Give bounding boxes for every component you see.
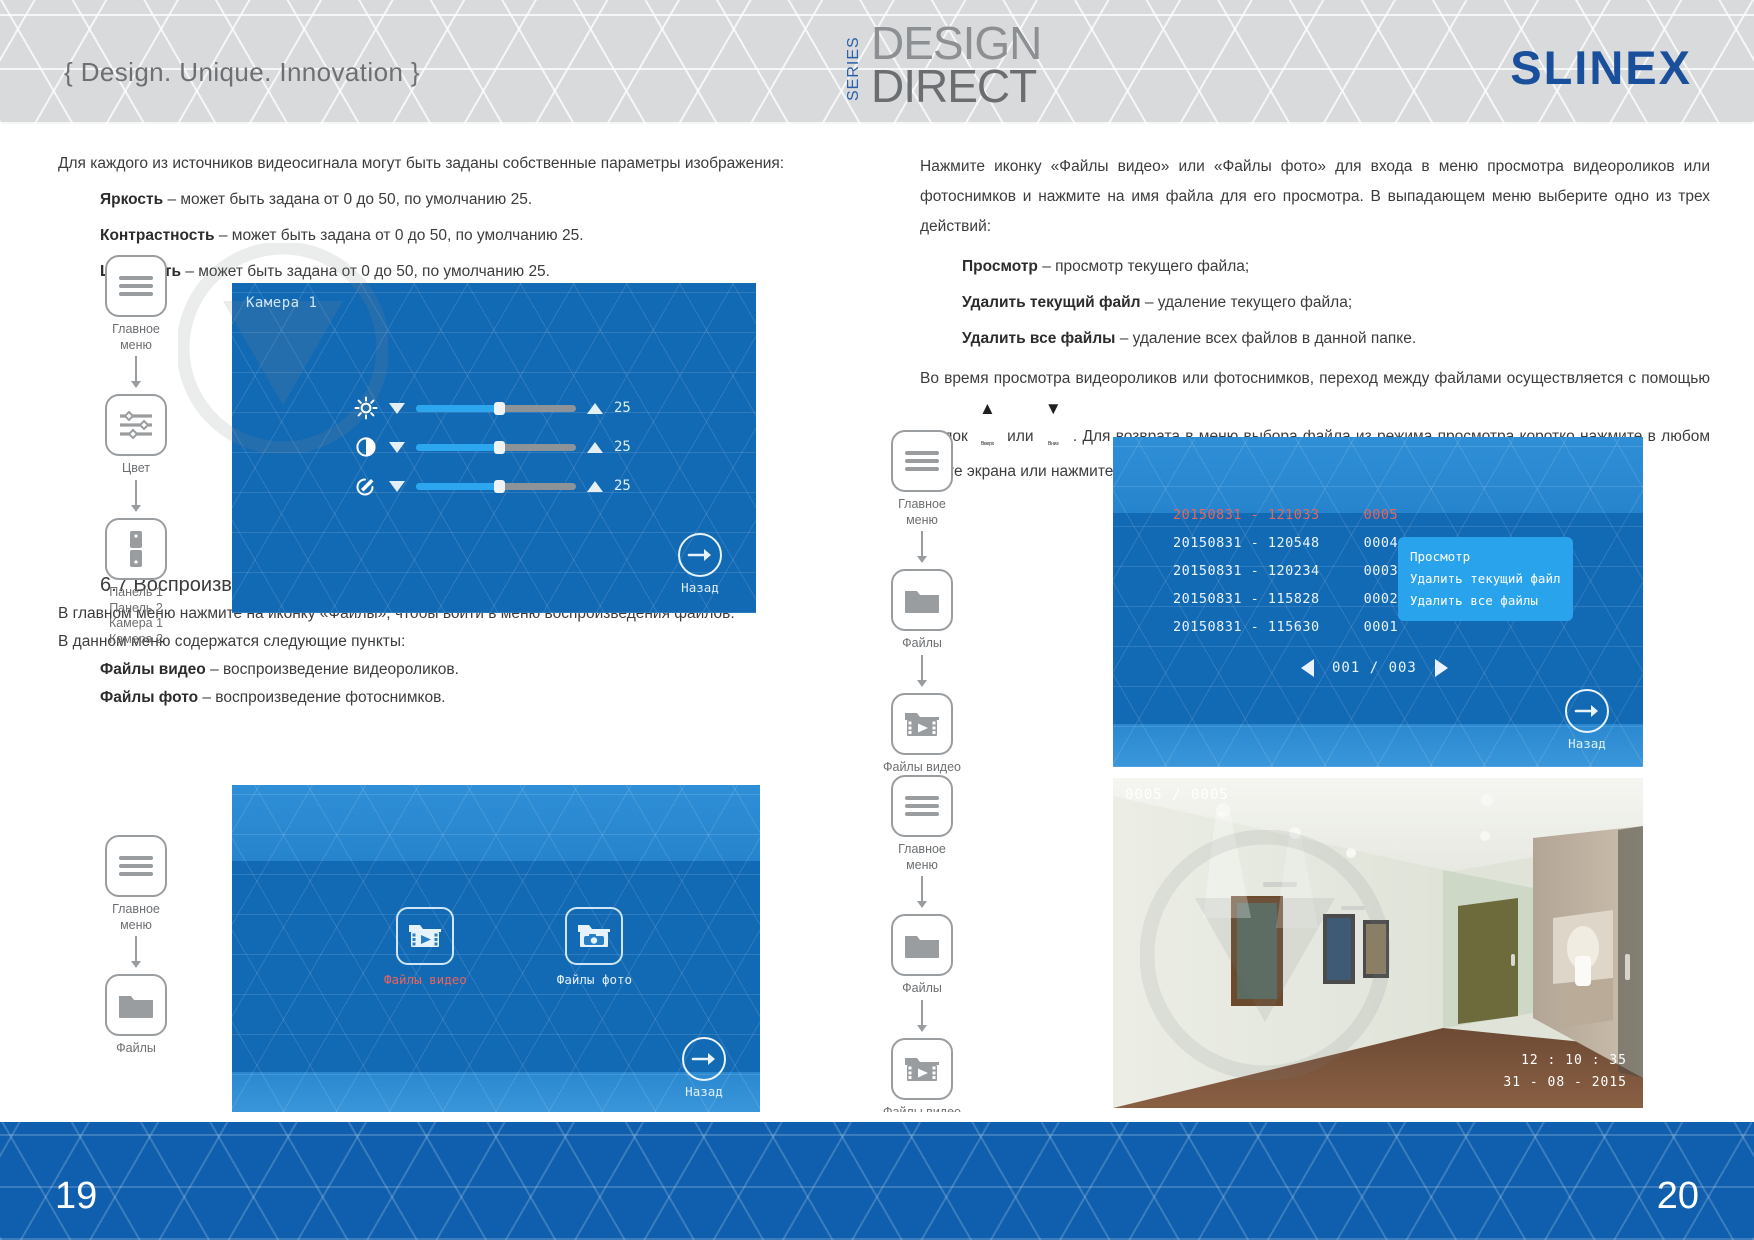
- video-folder-icon: [903, 709, 941, 739]
- contrast-icon: [354, 435, 378, 459]
- photo-date: 31 - 08 - 2015: [1503, 1075, 1627, 1090]
- video-folder-icon: [903, 1054, 941, 1084]
- file-list-screen: 20150831 - 121033 0005 20150831 - 120548…: [1113, 437, 1643, 767]
- pagination-label: 001 / 003: [1332, 660, 1417, 676]
- back-button-files[interactable]: Назад: [682, 1037, 726, 1099]
- flow-label-panels: Панель 1 Панель 2 Камера 1 Камера 2: [76, 585, 196, 648]
- file-list-item[interactable]: 20150831 - 120234 0003: [1173, 563, 1408, 579]
- sidebar-item-main-menu-2[interactable]: [105, 835, 167, 897]
- flow-arrow-2: [135, 480, 137, 506]
- color-decrease-button[interactable]: [389, 481, 405, 492]
- photo-preview-screen: 0005 / 0005 12 : 10 : 35 31 - 08 - 2015: [1113, 778, 1643, 1108]
- right-flow-1: Главное меню Файлы Файлы видео: [862, 430, 982, 776]
- page-number-left: 19: [55, 1175, 97, 1218]
- previous-page-button[interactable]: [1301, 659, 1314, 677]
- photo-counter: 0005 / 0005: [1125, 787, 1229, 803]
- back-button[interactable]: Назад: [678, 533, 722, 595]
- back-button-label: Назад: [678, 580, 722, 595]
- param-contrast-name: Контрастность: [100, 227, 215, 244]
- file-name: 20150831 - 115630: [1173, 619, 1320, 635]
- action-delete-current-desc: – удаление текущего файла;: [1141, 294, 1353, 311]
- file-name: 20150831 - 115828: [1173, 591, 1320, 607]
- photo-time: 12 : 10 : 35: [1521, 1053, 1627, 1068]
- manual-page: { Design. Unique. Innovation } SERIES DE…: [0, 0, 1754, 1240]
- file-number: 0005: [1364, 507, 1408, 523]
- action-delete-all-name: Удалить все файлы: [962, 330, 1115, 347]
- right-intro-paragraph: Нажмите иконку «Файлы видео» или «Файлы …: [920, 152, 1710, 243]
- page-footer: 19 20: [0, 1112, 1754, 1240]
- file-list-item[interactable]: 20150831 - 120548 0004: [1173, 535, 1408, 551]
- param-brightness-desc: – может быть задана от 0 до 50, по умолч…: [163, 191, 532, 208]
- back-arrow-icon: [1565, 689, 1609, 733]
- footer-mesh-pattern: [0, 1112, 1754, 1240]
- flow-arrow-5: [921, 655, 923, 681]
- back-button-file-list[interactable]: Назад: [1565, 689, 1609, 751]
- file-number: 0001: [1364, 619, 1408, 635]
- param-brightness-name: Яркость: [100, 191, 163, 208]
- sidebar-item-files-2[interactable]: [891, 569, 953, 631]
- flow-label-color: Цвет: [76, 461, 196, 477]
- item-video-files-desc: – воспроизведение видеороликов.: [206, 661, 459, 678]
- right-flow-2: Главное меню Файлы Файлы видео: [862, 775, 982, 1121]
- context-menu-item-delete-all[interactable]: Удалить все файлы: [1410, 590, 1561, 612]
- flow-label-main-menu-4: Главное меню: [862, 842, 982, 873]
- brightness-value: 25: [614, 400, 640, 416]
- series-design-text: DESIGN: [871, 22, 1041, 65]
- screen-bottom-band: [232, 1072, 760, 1115]
- screen-bottom-band: [1113, 724, 1643, 767]
- action-view: Просмотр – просмотр текущего файла;: [920, 255, 1710, 279]
- file-list-item[interactable]: 20150831 - 115630 0001: [1173, 619, 1408, 635]
- color-increase-button[interactable]: [587, 481, 603, 492]
- menu-item-photo-files[interactable]: Файлы фото: [557, 907, 632, 987]
- brightness-slider-knob[interactable]: [494, 402, 505, 415]
- file-list-item[interactable]: 20150831 - 121033 0005: [1173, 507, 1408, 523]
- context-menu-item-view[interactable]: Просмотр: [1410, 546, 1561, 568]
- color-slider-knob[interactable]: [494, 480, 505, 493]
- photo-timestamp: 12 : 10 : 35 31 - 08 - 2015: [1503, 1050, 1627, 1094]
- flow-label-main-menu-3: Главное меню: [862, 497, 982, 528]
- photo-folder-icon: [565, 907, 623, 965]
- screen-top-band: [232, 785, 760, 861]
- menu-item-video-files[interactable]: Файлы видео: [384, 907, 467, 987]
- context-menu: Просмотр Удалить текущий файл Удалить вс…: [1398, 537, 1573, 621]
- sidebar-item-files[interactable]: [105, 974, 167, 1036]
- contrast-decrease-button[interactable]: [389, 442, 405, 453]
- item-video-files-name: Файлы видео: [100, 661, 206, 678]
- contrast-slider-knob[interactable]: [494, 441, 505, 454]
- sidebar-item-color[interactable]: [105, 394, 167, 456]
- item-photo-files-desc: – воспроизведение фотоснимков.: [198, 689, 446, 706]
- flow-label-main-menu: Главное меню: [76, 322, 196, 353]
- left-intro-paragraph: Для каждого из источников видеосигнала м…: [58, 152, 848, 176]
- files-menu-screen: Файлы видео Файлы фото: [232, 785, 760, 1115]
- flow-label-main-menu-2: Главное меню: [76, 902, 196, 933]
- back-arrow-icon: [682, 1037, 726, 1081]
- photo-files-label: Файлы фото: [557, 972, 632, 987]
- file-name: 20150831 - 120548: [1173, 535, 1320, 551]
- flow-arrow-7: [921, 1000, 923, 1026]
- flow-arrow-3: [135, 936, 137, 962]
- footer-top-strip: [0, 1112, 1754, 1122]
- next-page-button[interactable]: [1435, 659, 1448, 677]
- page-number-right: 20: [1657, 1175, 1699, 1218]
- file-name: 20150831 - 120234: [1173, 563, 1320, 579]
- file-name: 20150831 - 121033: [1173, 507, 1320, 523]
- param-color-desc: – может быть задана от 0 до 50, по умолч…: [181, 263, 550, 280]
- sidebar-item-video-files[interactable]: [891, 693, 953, 755]
- action-view-name: Просмотр: [962, 258, 1038, 275]
- sidebar-item-main-menu-4[interactable]: [891, 775, 953, 837]
- flow-arrow-1: [135, 356, 137, 382]
- action-delete-all-desc: – удаление всех файлов в данной папке.: [1115, 330, 1416, 347]
- hamburger-icon: [905, 792, 939, 820]
- flow-arrow-6: [921, 876, 923, 902]
- left-flow-2: Главное меню Файлы: [76, 835, 196, 1057]
- sidebar-item-video-files-2[interactable]: [891, 1038, 953, 1100]
- hamburger-icon: [905, 447, 939, 475]
- file-list: 20150831 - 121033 0005 20150831 - 120548…: [1173, 507, 1408, 647]
- slider-row-contrast: 25: [354, 435, 640, 459]
- flow-label-files: Файлы: [76, 1041, 196, 1057]
- back-button-label: Назад: [682, 1084, 726, 1099]
- flow-label-video-files: Файлы видео: [862, 760, 982, 776]
- key-down-icon: ▼ Вниз: [1045, 394, 1062, 456]
- left-flow-1: Главное меню Цвет Панель 1 Панель 2 Каме…: [76, 255, 196, 647]
- color-slider[interactable]: [416, 483, 576, 490]
- folder-icon: [903, 930, 941, 960]
- context-menu-item-delete-current[interactable]: Удалить текущий файл: [1410, 568, 1561, 590]
- sliders-icon: [118, 410, 154, 440]
- sidebar-item-main-menu[interactable]: [105, 255, 167, 317]
- flow-label-files-3: Файлы: [862, 981, 982, 997]
- param-contrast-desc: – может быть задана от 0 до 50, по умолч…: [215, 227, 584, 244]
- action-view-desc: – просмотр текущего файла;: [1038, 258, 1249, 275]
- sidebar-item-files-3[interactable]: [891, 914, 953, 976]
- brightness-slider[interactable]: [416, 405, 576, 412]
- contrast-slider[interactable]: [416, 444, 576, 451]
- series-direct-text: DIRECT: [871, 65, 1041, 108]
- page-header: { Design. Unique. Innovation } SERIES DE…: [0, 0, 1754, 124]
- navigation-or-word: или: [1007, 428, 1033, 445]
- video-files-label: Файлы видео: [384, 972, 467, 987]
- action-delete-current: Удалить текущий файл – удаление текущего…: [920, 291, 1710, 315]
- brightness-icon: [354, 396, 378, 420]
- video-folder-icon: [396, 907, 454, 965]
- back-arrow-icon: [678, 533, 722, 577]
- flow-arrow-4: [921, 531, 923, 557]
- brightness-decrease-button[interactable]: [389, 403, 405, 414]
- action-delete-all: Удалить все файлы – удаление всех файлов…: [920, 327, 1710, 351]
- camera-settings-screen: Камера 1: [232, 283, 756, 613]
- param-brightness: Яркость – может быть задана от 0 до 50, …: [58, 188, 848, 212]
- back-button-label: Назад: [1565, 736, 1609, 751]
- file-list-item[interactable]: 20150831 - 115828 0002: [1173, 591, 1408, 607]
- contrast-increase-button[interactable]: [587, 442, 603, 453]
- color-icon: [354, 474, 378, 498]
- slider-row-color: 25: [354, 474, 640, 498]
- folder-icon: [903, 585, 941, 615]
- slinex-brand-logo: SLINEX: [1510, 40, 1692, 95]
- sidebar-item-main-menu-3[interactable]: [891, 430, 953, 492]
- item-photo-files: Файлы фото – воспроизведение фотоснимков…: [58, 686, 446, 710]
- item-photo-files-name: Файлы фото: [100, 689, 198, 706]
- contrast-value: 25: [614, 439, 640, 455]
- flow-label-files-2: Файлы: [862, 636, 982, 652]
- slider-row-brightness: 25: [354, 396, 640, 420]
- pagination: 001 / 003: [1301, 659, 1448, 677]
- header-tagline: { Design. Unique. Innovation }: [64, 57, 420, 88]
- color-value: 25: [614, 478, 640, 494]
- hamburger-icon: [119, 272, 153, 300]
- series-word: SERIES: [845, 30, 863, 108]
- param-contrast: Контрастность – может быть задана от 0 д…: [58, 224, 848, 248]
- sidebar-item-panel[interactable]: [105, 518, 167, 580]
- brightness-increase-button[interactable]: [587, 403, 603, 414]
- folder-icon: [117, 990, 155, 1020]
- panel-icon: [125, 529, 147, 569]
- action-delete-current-name: Удалить текущий файл: [962, 294, 1141, 311]
- item-video-files: Файлы видео – воспроизведение видеоролик…: [58, 658, 459, 682]
- hamburger-icon: [119, 852, 153, 880]
- screen-top-band: [1113, 437, 1643, 513]
